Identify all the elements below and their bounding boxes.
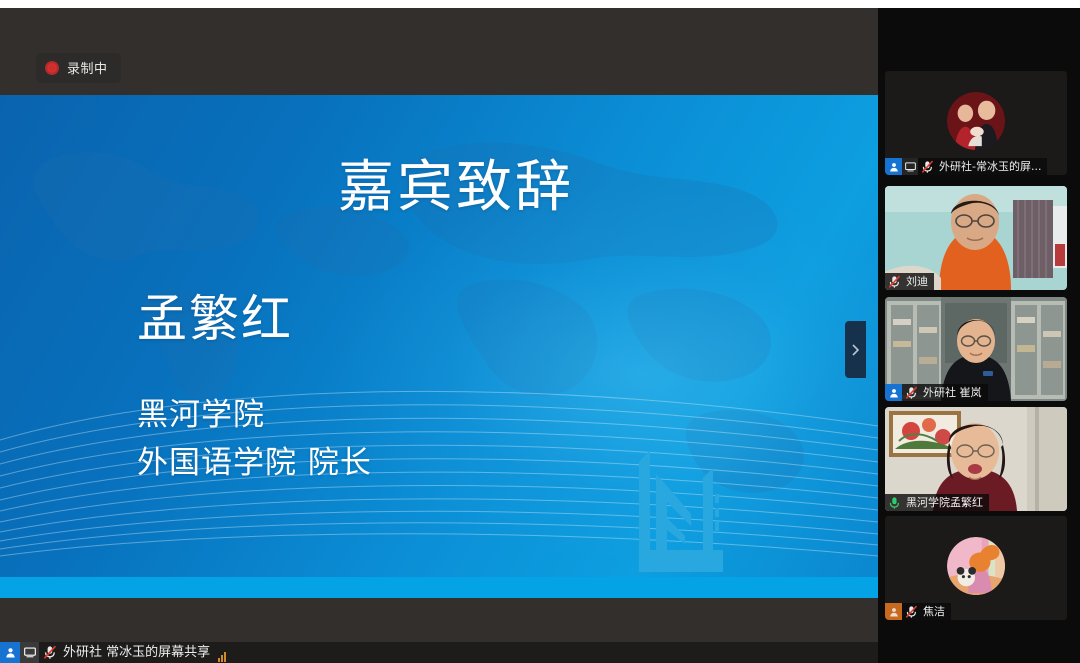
participant-name: 焦洁: [921, 603, 945, 620]
tile-name-bar: 焦洁: [885, 603, 951, 620]
participant-tile[interactable]: 外研社-常冰玉的屏...: [885, 71, 1067, 175]
mic-muted-icon: [902, 384, 921, 401]
avatar: [947, 537, 1005, 595]
tile-name-bar: 外研社-常冰玉的屏...: [885, 158, 1047, 175]
chevron-right-icon: [851, 343, 860, 357]
participant-name: 刘迪: [904, 273, 928, 290]
participant-video-strip[interactable]: 外研社-常冰玉的屏...: [878, 8, 1080, 663]
participant-tile-active-speaker[interactable]: 黑河学院孟繁红: [885, 407, 1067, 511]
city-skyline-graphic: [623, 432, 783, 572]
slide-title: 嘉宾致辞: [338, 157, 574, 219]
slide-speaker-name: 孟繁红: [137, 292, 293, 347]
curved-lines-decoration: [0, 348, 878, 598]
tile-name-bar: 外研社 崔岚: [885, 384, 988, 401]
participant-tile[interactable]: 焦洁: [885, 516, 1067, 620]
slide-glow: [334, 186, 878, 563]
participant-name: 外研社-常冰玉的屏...: [937, 158, 1041, 175]
share-source-bar: 外研社 常冰玉的屏幕共享: [0, 642, 878, 663]
mic-muted-icon: [918, 158, 937, 175]
cohost-badge-icon: [885, 603, 902, 620]
collapse-video-panel-button[interactable]: [845, 321, 866, 378]
tile-name-bar: 黑河学院孟繁红: [885, 494, 989, 511]
participant-name: 外研社 崔岚: [921, 384, 982, 401]
participant-name: 黑河学院孟繁红: [904, 494, 983, 511]
recording-label: 录制中: [67, 62, 108, 75]
record-dot-icon: [45, 61, 59, 75]
screen-share-icon: [902, 158, 918, 175]
zoom-meeting-window: 录制中: [0, 8, 1080, 663]
slide-affiliation-line1: 黑河学院: [137, 391, 372, 439]
mic-muted-icon: [39, 642, 61, 663]
host-badge-icon: [0, 642, 20, 663]
slide-accent-band: [0, 577, 878, 598]
share-source-label: 外研社 常冰玉的屏幕共享: [61, 642, 210, 663]
participant-tile[interactable]: 刘迪: [885, 186, 1067, 290]
recording-indicator[interactable]: 录制中: [36, 53, 121, 83]
slide-affiliation-line2: 外国语学院 院长: [137, 439, 372, 487]
host-badge-icon: [885, 158, 902, 175]
volume-bars-icon: [218, 642, 226, 663]
tile-name-bar: 刘迪: [885, 273, 934, 290]
shared-screen-region: 录制中: [0, 8, 878, 663]
meeting-screenshot: 录制中: [0, 0, 1080, 663]
slide-affiliation: 黑河学院 外国语学院 院长: [137, 391, 372, 487]
presentation-slide: 嘉宾致辞 孟繁红 黑河学院 外国语学院 院长: [0, 95, 878, 598]
screen-share-icon: [20, 642, 39, 663]
avatar: [947, 92, 1005, 150]
mic-muted-icon: [902, 603, 921, 620]
mic-muted-icon: [885, 273, 904, 290]
host-badge-icon: [885, 384, 902, 401]
participant-tile[interactable]: 外研社 崔岚: [885, 297, 1067, 401]
mic-active-icon: [885, 494, 904, 511]
